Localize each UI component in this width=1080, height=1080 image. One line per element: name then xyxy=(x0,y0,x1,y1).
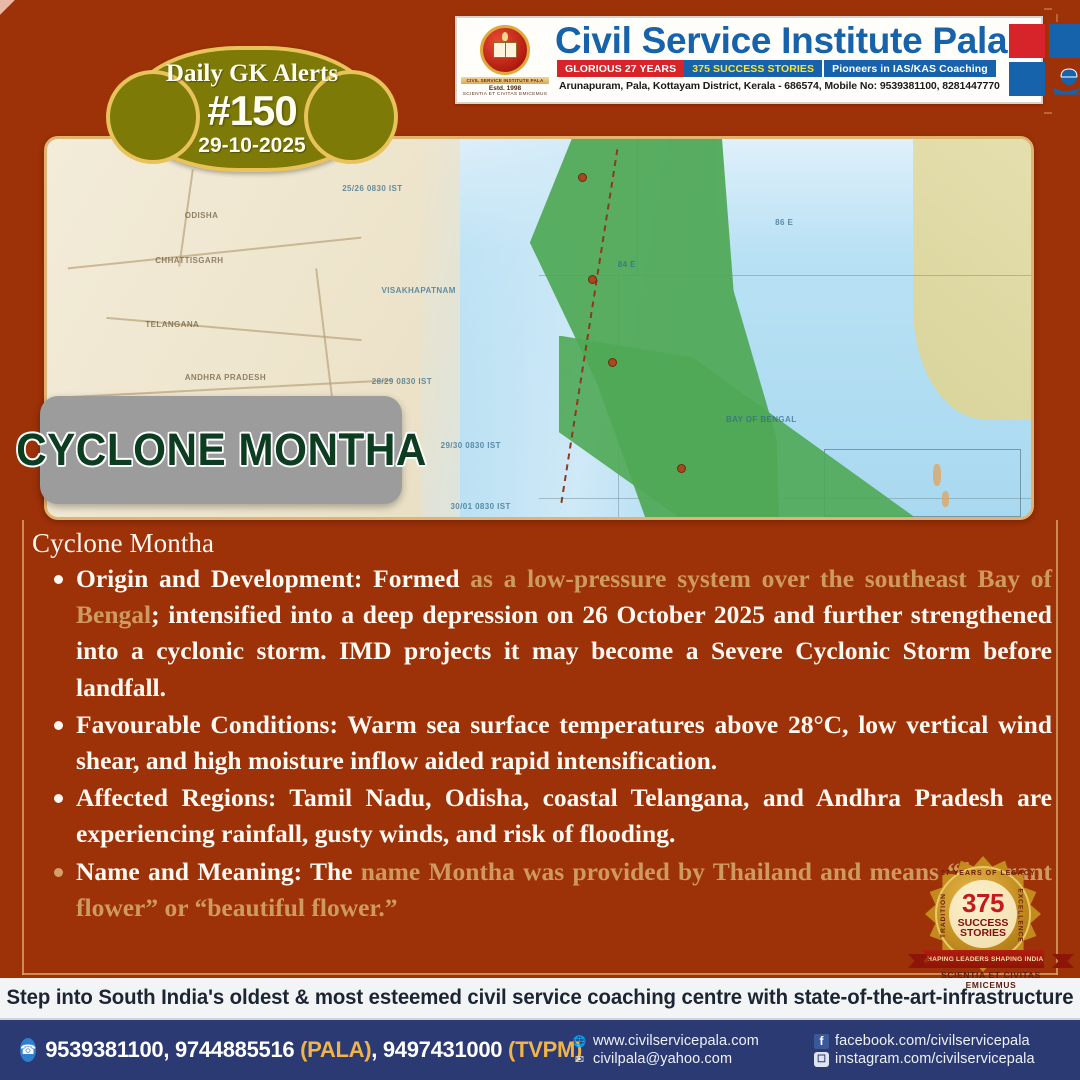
map-label: TELANGANA xyxy=(145,320,199,329)
badge-date: 29-10-2025 xyxy=(198,135,305,157)
inner-border-bottom xyxy=(22,973,1058,975)
header-square-grid xyxy=(1007,18,1080,102)
seal-arc-right: EXCELLENCE xyxy=(1016,888,1023,942)
header-chip-row: GLORIOUS 27 YEARS 375 SUCCESS STORIES Pi… xyxy=(557,60,1007,77)
content-subheading: Cyclone Montha xyxy=(32,528,1054,559)
flame-icon xyxy=(502,32,508,41)
map-label: VISAKHAPATNAM xyxy=(382,286,456,295)
phone-location-pala: (PALA) xyxy=(300,1037,371,1062)
globe-icon: 🌐 xyxy=(572,1034,587,1049)
map-label: ANDHRA PRADESH xyxy=(185,373,266,382)
bullet-text: Favourable Conditions: Warm sea surface … xyxy=(76,710,1052,775)
badge-number: #150 xyxy=(207,89,296,133)
footer-instagram: instagram.com/civilservicepala xyxy=(835,1051,1035,1067)
map-label: ODISHA xyxy=(185,211,219,220)
phone-list-2: , 9497431000 xyxy=(371,1037,508,1062)
phone-list-1: 9539381100, 9744885516 xyxy=(45,1037,300,1062)
footer-phone-block: ☎ 9539381100, 9744885516 (PALA), 9497431… xyxy=(20,1037,572,1063)
footer-phone-numbers: 9539381100, 9744885516 (PALA), 949743100… xyxy=(45,1037,582,1063)
footer-website: www.civilservicepala.com xyxy=(593,1033,759,1049)
headline-plate: CYCLONE MONTHA xyxy=(40,396,402,504)
hand-globe-icon xyxy=(1049,62,1080,96)
footer-social-block: f facebook.com/civilservicepala ☐ instag… xyxy=(814,1033,1035,1067)
footer-bar: ☎ 9539381100, 9744885516 (PALA), 9497431… xyxy=(0,1020,1080,1080)
map-island xyxy=(933,464,941,486)
footer-instagram-row[interactable]: ☐ instagram.com/civilservicepala xyxy=(814,1051,1035,1067)
book-icon xyxy=(493,42,517,58)
footer-facebook: facebook.com/civilservicepala xyxy=(835,1033,1030,1049)
corner-tick-low xyxy=(1044,112,1052,114)
map-label: CHHATTISGARH xyxy=(155,256,223,265)
bullet-text: Origin and Development: Formed xyxy=(76,564,470,593)
facebook-icon: f xyxy=(814,1034,829,1049)
seal-ribbon-label: SHAPING LEADERS SHAPING INDIA xyxy=(922,950,1044,968)
map-label: 30/01 0830 IST xyxy=(450,502,510,511)
emblem-ribbon-label: CIVIL SERVICE INSTITUTE PALA xyxy=(461,77,548,84)
fact-bullet-list: Origin and Development: Formed as a low-… xyxy=(26,561,1054,926)
fact-bullet: Affected Regions: Tamil Nadu, Odisha, co… xyxy=(50,780,1052,852)
map-island xyxy=(942,491,949,507)
map-label: 25/26 0830 IST xyxy=(342,184,402,193)
header-text-block: Civil Service Institute Pala GLORIOUS 27… xyxy=(553,18,1007,102)
seal-motto-label: SCIENTIA ET CIVITAS EMICEMUS xyxy=(916,970,1066,990)
footer-website-row[interactable]: 🌐 www.civilservicepala.com xyxy=(572,1033,814,1049)
bullet-text: Affected Regions: Tamil Nadu, Odisha, co… xyxy=(76,783,1052,848)
fact-bullet: Favourable Conditions: Warm sea surface … xyxy=(50,707,1052,779)
success-stories-seal: 27 YEARS OF LEGACY TRADITION EXCELLENCE … xyxy=(916,856,1066,976)
seal-arc-top: 27 YEARS OF LEGACY xyxy=(941,870,1036,877)
map-label: BAY OF BENGAL xyxy=(726,415,797,424)
footer-facebook-row[interactable]: f facebook.com/civilservicepala xyxy=(814,1033,1035,1049)
corner-tick-top xyxy=(1044,8,1052,10)
poster-root: CIVIL SERVICE INSTITUTE PALA Estd. 1998 … xyxy=(0,0,1080,1080)
chip-pioneers-coaching: Pioneers in IAS/KAS Coaching xyxy=(822,60,996,77)
seal-stories-label: STORIES xyxy=(960,928,1006,939)
bullet-text: ; intensified into a deep depression on … xyxy=(76,600,1052,701)
institute-address: Arunapuram, Pala, Kottayam District, Ker… xyxy=(559,80,1007,92)
square-blue-bottom xyxy=(1009,62,1045,96)
footer-email: civilpala@yahoo.com xyxy=(593,1051,732,1067)
square-red xyxy=(1009,24,1045,58)
chip-success-stories: 375 SUCCESS STORIES xyxy=(684,60,822,77)
phone-location-tvpm: (TVPM) xyxy=(508,1037,582,1062)
page-title: CYCLONE MONTHA xyxy=(16,424,427,476)
phone-icon: ☎ xyxy=(20,1038,36,1062)
track-point xyxy=(677,464,686,473)
seal-arc-left: TRADITION xyxy=(940,893,947,938)
institute-name: Civil Service Institute Pala xyxy=(555,22,1007,59)
emblem-estd-label: Estd. 1998 xyxy=(489,85,521,92)
seal-number: 375 xyxy=(962,890,1004,916)
chip-glorious-years: GLORIOUS 27 YEARS xyxy=(557,60,684,77)
tagline-text: Step into South India's oldest & most es… xyxy=(7,986,1074,1010)
instagram-icon: ☐ xyxy=(814,1052,829,1067)
emblem-circle-icon xyxy=(480,25,530,75)
map-label: 84 E xyxy=(618,260,636,269)
institute-emblem: CIVIL SERVICE INSTITUTE PALA Estd. 1998 … xyxy=(457,18,553,102)
mail-icon: ✉ xyxy=(572,1052,587,1067)
fact-bullet: Origin and Development: Formed as a low-… xyxy=(50,561,1052,706)
map-label: 28/29 0830 IST xyxy=(372,377,432,386)
square-blue-top xyxy=(1049,24,1080,58)
institute-header-banner: CIVIL SERVICE INSTITUTE PALA Estd. 1998 … xyxy=(455,16,1043,104)
inner-border-left xyxy=(22,520,24,975)
footer-email-row[interactable]: ✉ civilpala@yahoo.com xyxy=(572,1051,814,1067)
seal-core: 375 SUCCESS STORIES xyxy=(949,880,1017,948)
emblem-motto-label: SCIENTIA ET CIVITAS EMICEMUS xyxy=(463,92,547,97)
daily-gk-badge: Daily GK Alerts #150 29-10-2025 xyxy=(128,46,376,172)
bullet-text: Name and Meaning: The xyxy=(76,857,361,886)
map-label: 29/30 0830 IST xyxy=(441,441,501,450)
map-label: 86 E xyxy=(775,218,793,227)
badge-title: Daily GK Alerts xyxy=(166,61,338,87)
badge-content: Daily GK Alerts #150 29-10-2025 xyxy=(128,46,376,172)
fact-bullet: Name and Meaning: The name Montha was pr… xyxy=(50,854,1052,926)
map-landmass-myanmar xyxy=(913,139,1031,419)
footer-web-block: 🌐 www.civilservicepala.com ✉ civilpala@y… xyxy=(572,1033,814,1067)
